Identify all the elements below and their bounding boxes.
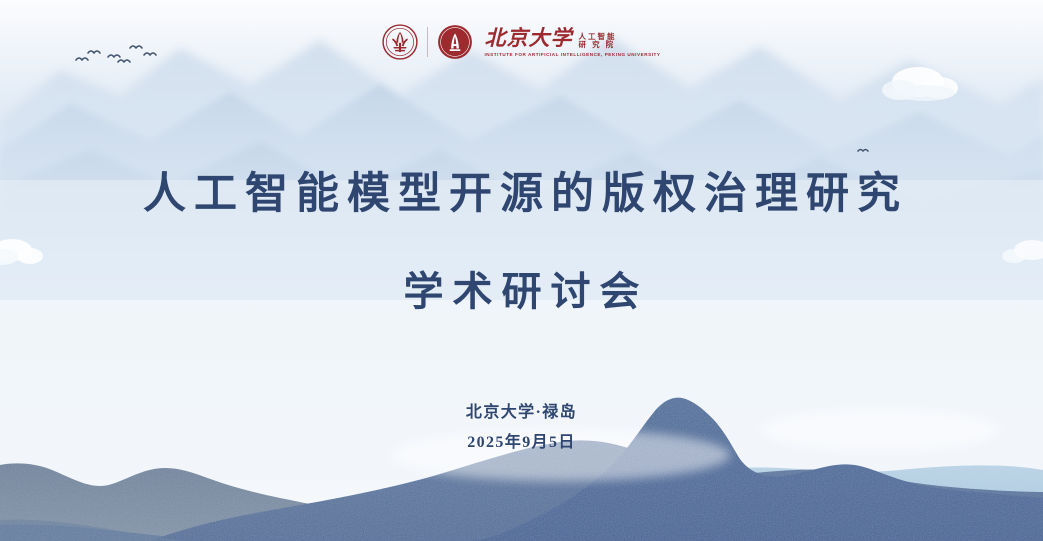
logo-divider [427,27,428,57]
logo-group: 北京大学 人工智能 研 究 院 INSTITUTE FOR ARTIFICIAL… [382,24,660,60]
event-venue: 北京大学·禄岛 [0,398,1043,428]
page-title-line-2: 学术研讨会 [0,268,1043,316]
institute-ai-seal-icon [437,24,473,60]
logo-english-line: INSTITUTE FOR ARTIFICIAL INTELLIGENCE, P… [484,52,660,57]
poster-canvas: 北京大学 人工智能 研 究 院 INSTITUTE FOR ARTIFICIAL… [0,0,1043,541]
page-title-line-1: 人工智能模型开源的版权治理研究 [0,168,1043,222]
logo-wordmark: 北京大学 人工智能 研 究 院 INSTITUTE FOR ARTIFICIAL… [484,28,660,57]
event-meta-block: 北京大学·禄岛 2025年9月5日 [0,398,1043,457]
bird-icon [118,60,130,62]
logo-wordmark-cn: 北京大学 [484,28,572,49]
title-block: 人工智能模型开源的版权治理研究 学术研讨会 [0,168,1043,316]
logo-sub-line-2: 研 究 院 [578,41,616,49]
logo-bar: 北京大学 人工智能 研 究 院 INSTITUTE FOR ARTIFICIAL… [0,24,1043,60]
peking-university-seal-icon [382,24,418,60]
event-date: 2025年9月5日 [0,428,1043,458]
logo-wordmark-row: 北京大学 人工智能 研 究 院 [484,28,660,49]
logo-wordmark-sub: 人工智能 研 究 院 [578,33,616,49]
